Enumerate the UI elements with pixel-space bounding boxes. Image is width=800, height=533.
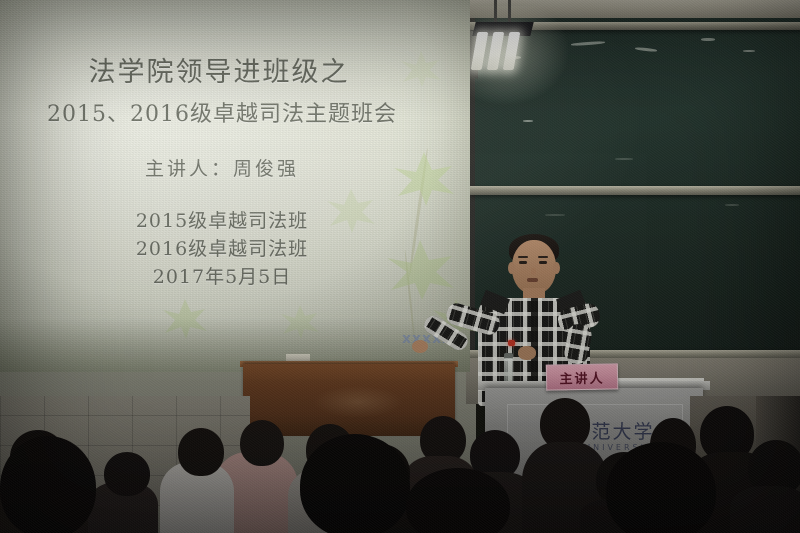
speaker-ear-left — [508, 262, 515, 274]
audience-shirt — [730, 486, 800, 533]
speaker-hand-right — [518, 346, 536, 360]
audience-head — [178, 428, 224, 476]
fluorescent-lamp — [466, 32, 536, 72]
speaker-mouth — [527, 278, 538, 282]
slide-line-3: 2017年5月5日 — [0, 262, 448, 289]
slide-subtitle: 2015、2016级卓越司法主题班会 — [0, 96, 448, 128]
audience-head-foreground — [0, 436, 96, 533]
speaker-head — [512, 240, 556, 294]
presenter-name-card: 主讲人 — [546, 363, 618, 390]
speaker-nose — [531, 268, 536, 275]
audience-head-foreground — [300, 434, 410, 533]
laser-pointer-icon — [508, 340, 515, 346]
blackboard-rail-middle — [470, 186, 800, 195]
slide-line-2: 2016级卓越司法班 — [0, 234, 448, 261]
speaker-brow-right — [538, 256, 548, 258]
blackboard-top-frame — [466, 0, 800, 18]
speaker-brow-left — [518, 256, 528, 258]
audience-head — [240, 420, 284, 466]
audience-head — [104, 452, 150, 496]
speaker-ear-right — [553, 262, 560, 274]
lecture-hall-photo: 法学院领导进班级之 2015、2016级卓越司法主题班会 主讲人：周俊强 201… — [0, 0, 800, 533]
speaker-eye-right — [539, 261, 547, 264]
audience-head-foreground — [606, 442, 716, 533]
speaker-eye-left — [519, 261, 527, 264]
speaker-hand-left — [412, 340, 428, 353]
slide-line-1: 2015级卓越司法班 — [0, 206, 448, 233]
slide-title: 法学院领导进班级之 — [0, 50, 442, 89]
projection-screen: 法学院领导进班级之 2015、2016级卓越司法主题班会 主讲人：周俊强 201… — [0, 0, 470, 372]
slide-presenter: 主讲人：周俊强 — [0, 154, 448, 181]
table-emblem — [313, 386, 403, 418]
slide-content: 法学院领导进班级之 2015、2016级卓越司法主题班会 主讲人：周俊强 201… — [0, 0, 466, 370]
presenter-name-card-label: 主讲人 — [559, 367, 604, 387]
